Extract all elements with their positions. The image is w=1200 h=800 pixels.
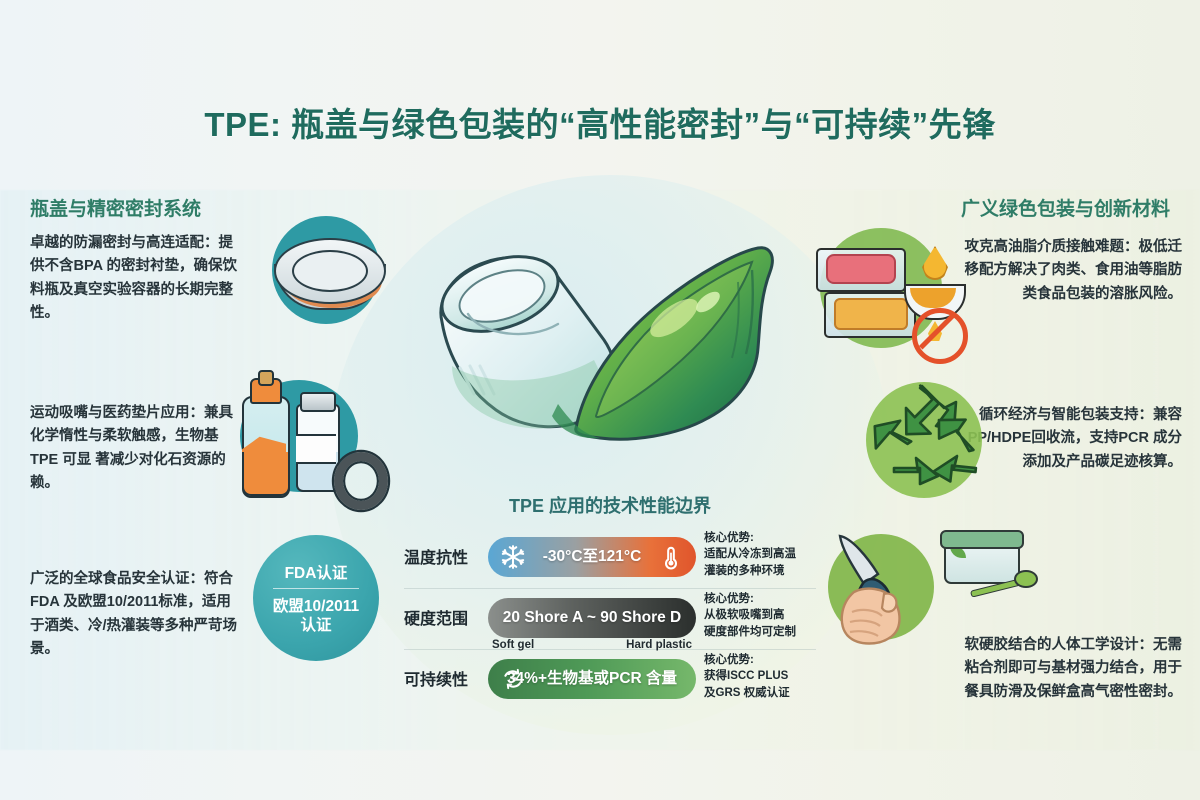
- sustainability-bar: 34%+生物基或PCR 含量: [488, 659, 696, 699]
- hardness-value: 20 Shore A ~ 90 Shore D: [488, 598, 696, 638]
- row-label-hardness: 硬度范围: [404, 605, 484, 629]
- page-title: TPE: 瓶盖与绿色包装的“高性能密封”与“可持续”先锋: [0, 98, 1200, 146]
- benefit-line2-hardness: 硬度部件均可定制: [704, 624, 822, 640]
- benefit-line2-temperature: 灌装的多种环境: [704, 563, 822, 579]
- bottle-cap-to-leaf-illustration: [408, 190, 808, 500]
- benefit-line1-hardness: 从极软吸嘴到高: [704, 607, 822, 623]
- fda-badge-line1: FDA认证: [273, 561, 359, 589]
- fda-badge-line2a: 欧盟10/2011: [273, 597, 359, 616]
- food-tray-oil-icon: [812, 222, 977, 357]
- knife-grip-lunchbox-icon: [818, 512, 1018, 647]
- row-label-sustainability: 可持续性: [404, 666, 484, 690]
- hardness-bar: 20 Shore A ~ 90 Shore D: [488, 598, 696, 638]
- hardness-benefit: 核心优势: 从极软吸嘴到高 硬度部件均可定制: [704, 591, 822, 640]
- right-block-1-text: 攻克高油脂介质接触难题：极低迁移配方解决了肉类、食用油等脂肪类食品包装的溶胀风险…: [952, 236, 1182, 306]
- row-label-temperature: 温度抗性: [404, 544, 484, 568]
- left-column-heading: 瓶盖与精密密封系统: [30, 194, 201, 221]
- sustainability-benefit: 核心优势: 获得ISCC PLUS 及GRS 权威认证: [704, 652, 822, 701]
- left-block-2-text: 运动吸嘴与医药垫片应用：兼具化学惰性与柔软触感，生物基TPE 可显 著减少对化石…: [30, 402, 235, 496]
- benefit-line1-temperature: 适配从冷冻到高温: [704, 546, 822, 562]
- benefit-head-sustainability: 核心优势:: [704, 652, 822, 668]
- panel-row-hardness: 硬度范围 20 Shore A ~ 90 Shore D Soft gel Ha…: [404, 589, 816, 650]
- temperature-benefit: 核心优势: 适配从冷冻到高温 灌装的多种环境: [704, 530, 822, 579]
- left-block-3-text: 广泛的全球食品安全认证：符合FDA 及欧盟10/2011标准，适用于酒类、冷/热…: [30, 568, 240, 662]
- benefit-head-hardness: 核心优势:: [704, 591, 822, 607]
- no-oil-prohibition-icon: [912, 308, 968, 364]
- sports-bottle-vial-icon: [218, 372, 378, 500]
- panel-title: TPE 应用的技术性能边界: [404, 492, 816, 518]
- benefit-line1-sustainability: 获得ISCC PLUS: [704, 668, 822, 684]
- left-block-1-text: 卓越的防漏密封与高连适配：提供不含BPA 的密封衬垫，确保饮料瓶及真空实验容器的…: [30, 232, 245, 326]
- infographic-canvas: TPE: 瓶盖与绿色包装的“高性能密封”与“可持续”先锋 瓶盖与精密密封系统 卓…: [0, 0, 1200, 800]
- sustainability-value: 34%+生物基或PCR 含量: [488, 659, 696, 699]
- fda-badge-icon: FDA认证 欧盟10/2011 认证: [253, 535, 379, 661]
- bottle-cap-liner-icon: [258, 212, 398, 328]
- right-column-heading: 广义绿色包装与创新材料: [961, 194, 1170, 221]
- benefit-head-temperature: 核心优势:: [704, 530, 822, 546]
- performance-panel: TPE 应用的技术性能边界 温度抗性 -30°C至121°C: [404, 492, 816, 722]
- recycle-icon: [856, 378, 1006, 503]
- temperature-bar: -30°C至121°C: [488, 537, 696, 577]
- thermometer-icon: [658, 544, 684, 570]
- panel-row-temperature: 温度抗性 -30°C至121°C: [404, 528, 816, 589]
- benefit-line2-sustainability: 及GRS 权威认证: [704, 685, 822, 701]
- panel-row-sustainability: 可持续性 34%+生物基或PCR 含量 核心优势: 获得ISCC PLUS 及G…: [404, 650, 816, 710]
- fda-badge-line2b: 认证: [273, 616, 359, 635]
